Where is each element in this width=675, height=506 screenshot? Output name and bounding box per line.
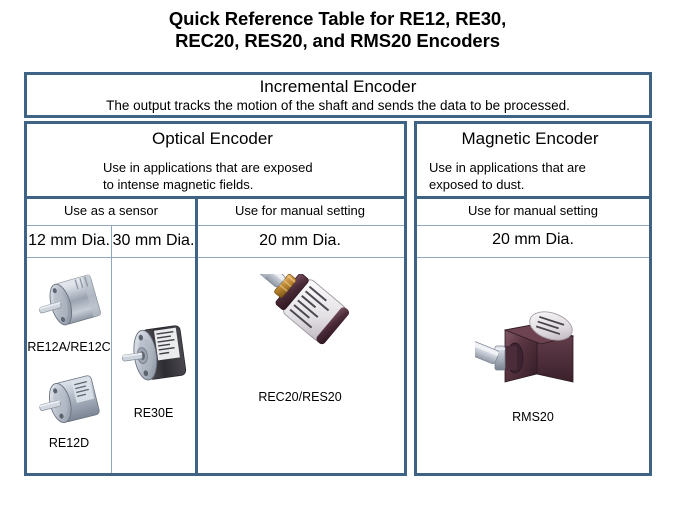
magnetic-usage-header-manual: Use for manual setting bbox=[417, 203, 649, 219]
optical-diameter-12mm: 12 mm Dia. bbox=[27, 231, 111, 251]
product-label-re12a-re12c: RE12A/RE12C bbox=[27, 340, 111, 355]
quick-reference-table: Incremental Encoder The output tracks th… bbox=[24, 72, 652, 476]
incremental-encoder-heading: Incremental Encoder bbox=[27, 76, 649, 97]
optical-usage-header-sensor: Use as a sensor bbox=[27, 203, 195, 219]
magnetic-encoder-heading: Magnetic Encoder bbox=[414, 128, 646, 150]
magnetic-encoder-block: Magnetic Encoder Use in applications tha… bbox=[414, 121, 652, 476]
product-label-rms20: RMS20 bbox=[417, 410, 649, 425]
re30e-encoder-image bbox=[122, 316, 200, 402]
product-label-re30e: RE30E bbox=[112, 406, 195, 421]
page-title: Quick Reference Table for RE12, RE30, RE… bbox=[0, 8, 675, 52]
optical-usage-divider bbox=[27, 225, 404, 226]
magnetic-description-line-2: exposed to dust. bbox=[429, 176, 644, 193]
magnetic-description-line-1: Use in applications that are bbox=[429, 159, 644, 176]
rec20-res20-encoder-image bbox=[242, 274, 352, 389]
incremental-encoder-band: Incremental Encoder The output tracks th… bbox=[24, 72, 652, 118]
incremental-encoder-description: The output tracks the motion of the shaf… bbox=[27, 96, 649, 115]
magnetic-encoder-description: Use in applications that are exposed to … bbox=[429, 159, 644, 193]
optical-description-line-1: Use in applications that are exposed bbox=[103, 159, 403, 176]
magnetic-diameter-20mm: 20 mm Dia. bbox=[417, 230, 649, 250]
optical-encoder-description: Use in applications that are exposed to … bbox=[103, 159, 403, 193]
optical-diameter-20mm: 20 mm Dia. bbox=[198, 231, 402, 251]
magnetic-usage-divider bbox=[417, 225, 649, 226]
optical-diameter-divider bbox=[27, 257, 404, 258]
re12d-encoder-image bbox=[39, 370, 115, 438]
magnetic-header-divider bbox=[417, 196, 649, 199]
optical-description-line-2: to intense magnetic fields. bbox=[103, 176, 403, 193]
rms20-encoder-image bbox=[475, 296, 587, 402]
product-label-re12d: RE12D bbox=[27, 436, 111, 451]
optical-encoder-block: Optical Encoder Use in applications that… bbox=[24, 121, 407, 476]
page-title-line-2: REC20, RES20, and RMS20 Encoders bbox=[0, 30, 675, 52]
re12a-re12c-encoder-image bbox=[38, 272, 110, 342]
optical-header-divider bbox=[27, 196, 404, 199]
magnetic-diameter-divider bbox=[417, 257, 649, 258]
product-label-rec20-res20: REC20/RES20 bbox=[198, 390, 402, 405]
optical-usage-header-manual: Use for manual setting bbox=[198, 203, 402, 219]
page-title-line-1: Quick Reference Table for RE12, RE30, bbox=[0, 8, 675, 30]
optical-diameter-30mm: 30 mm Dia. bbox=[112, 231, 195, 251]
optical-encoder-heading: Optical Encoder bbox=[24, 128, 401, 150]
